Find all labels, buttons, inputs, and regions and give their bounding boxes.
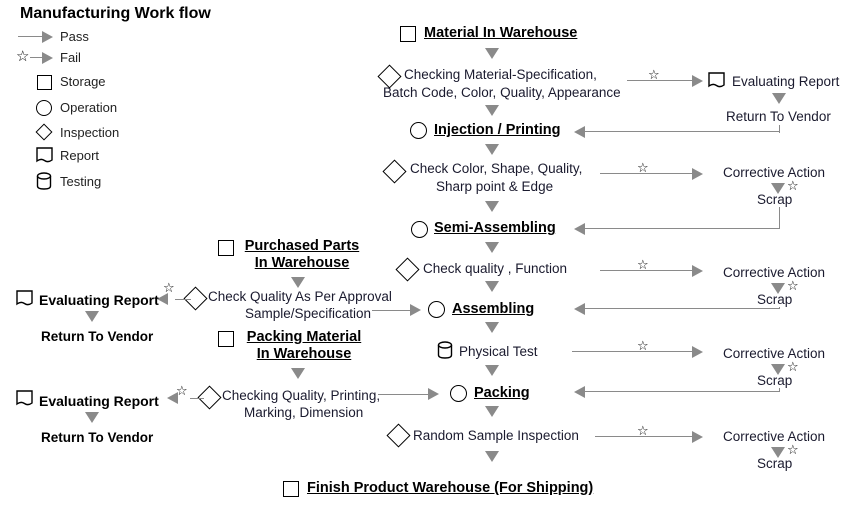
square-icon [218, 240, 234, 256]
arrow-right-icon [692, 431, 703, 443]
node-scrap-2[interactable]: Scrap [757, 292, 792, 307]
arrow-down-icon [85, 311, 99, 322]
arrow-down-icon [485, 451, 499, 462]
arrow-right-icon [692, 168, 703, 180]
node-check-quality-approval-line2[interactable]: Sample/Specification [245, 306, 371, 322]
node-assembling[interactable]: Assembling [452, 301, 534, 318]
legend-label-operation: Operation [60, 100, 117, 115]
arrow-left-icon [574, 303, 585, 315]
diamond-icon [395, 257, 419, 281]
arrow-down-icon [485, 406, 499, 417]
arrow-right-icon [410, 304, 421, 316]
star-icon: ☆ [637, 425, 649, 438]
document-icon [708, 72, 726, 89]
node-return-to-vendor-left-1[interactable]: Return To Vendor [41, 329, 153, 344]
page-title: Manufacturing Work flow [20, 5, 211, 23]
node-evaluating-report-left-1[interactable]: Evaluating Report [39, 292, 159, 308]
diamond-icon [386, 423, 410, 447]
node-random-sample-inspection[interactable]: Random Sample Inspection [413, 428, 579, 444]
node-injection-printing[interactable]: Injection / Printing [434, 122, 560, 139]
arrow-down-icon [485, 365, 499, 376]
fail-line-physical [572, 351, 695, 352]
star-icon: ☆ [637, 259, 649, 272]
node-purchased-parts-line1[interactable]: Purchased Parts [240, 238, 364, 255]
feedback-hline-vendor [585, 131, 780, 132]
node-scrap-4[interactable]: Scrap [757, 456, 792, 471]
node-checking-quality-printing-line1[interactable]: Checking Quality, Printing, [222, 388, 380, 404]
arrow-down-icon [485, 242, 499, 253]
node-return-to-vendor-left-2[interactable]: Return To Vendor [41, 430, 153, 445]
document-icon [16, 290, 34, 307]
node-packing-material-line2[interactable]: In Warehouse [240, 346, 368, 363]
node-physical-test[interactable]: Physical Test [459, 344, 538, 359]
square-icon [218, 331, 234, 347]
arrow-left-icon [574, 126, 585, 138]
arrow-down-icon [291, 277, 305, 288]
node-checking-quality-printing-line2[interactable]: Marking, Dimension [244, 405, 363, 421]
arrow-right-icon [42, 31, 53, 43]
arrow-right-icon [692, 75, 703, 87]
node-check-quality-approval-line1[interactable]: Check Quality As Per Approval [208, 289, 392, 305]
node-check-color-line1[interactable]: Check Color, Shape, Quality, [410, 161, 582, 177]
star-icon: ☆ [637, 340, 649, 353]
circle-icon [36, 100, 52, 116]
arrow-down-icon [485, 322, 499, 333]
pass-line-purchased-parts [372, 310, 412, 311]
arrow-down-icon [485, 144, 499, 155]
node-check-quality-function[interactable]: Check quality , Function [423, 261, 567, 277]
node-corrective-action-3[interactable]: Corrective Action [723, 346, 825, 361]
node-scrap-1[interactable]: Scrap [757, 192, 792, 207]
circle-icon [450, 385, 467, 402]
star-icon: ☆ [648, 69, 660, 82]
legend-label-storage: Storage [60, 74, 106, 89]
arrow-down-icon [772, 93, 786, 104]
arrow-down-icon [291, 368, 305, 379]
arrow-right-icon [428, 388, 439, 400]
arrow-left-icon [574, 386, 585, 398]
feedback-hline-corrective-1 [585, 228, 780, 229]
square-icon [400, 26, 416, 42]
circle-icon [410, 122, 427, 139]
legend-label-pass: Pass [60, 29, 89, 44]
node-return-to-vendor-top[interactable]: Return To Vendor [726, 109, 831, 124]
arrow-down-icon [85, 412, 99, 423]
node-semi-assembling[interactable]: Semi-Assembling [434, 220, 556, 237]
fail-line-purchased-parts [175, 299, 191, 300]
node-evaluating-report-left-2[interactable]: Evaluating Report [39, 393, 159, 409]
arrow-down-icon [485, 105, 499, 116]
legend-label-report: Report [60, 148, 99, 163]
arrow-right-icon [692, 346, 703, 358]
pass-line-packing-material [378, 394, 430, 395]
node-scrap-3[interactable]: Scrap [757, 373, 792, 388]
arrow-left-icon [574, 223, 585, 235]
document-icon [16, 390, 34, 407]
node-check-color-line2[interactable]: Sharp point & Edge [436, 179, 553, 195]
node-corrective-action-4[interactable]: Corrective Action [723, 429, 825, 444]
arrow-down-icon [485, 281, 499, 292]
node-corrective-action-2[interactable]: Corrective Action [723, 265, 825, 280]
feedback-vline-corrective-1 [779, 207, 780, 229]
cylinder-icon [36, 172, 53, 190]
legend-pass-line [18, 36, 44, 37]
diamond-icon [36, 124, 53, 141]
arrow-right-icon [692, 265, 703, 277]
arrow-right-icon [42, 52, 53, 64]
manufacturing-workflow-diagram: Manufacturing Work flow Pass ☆ Fail Stor… [0, 0, 864, 513]
circle-icon [411, 221, 428, 238]
diamond-icon [382, 159, 406, 183]
document-icon [36, 147, 54, 164]
star-icon: ☆ [637, 162, 649, 175]
square-icon [283, 481, 299, 497]
cylinder-icon [437, 341, 454, 359]
node-packing-material-line1[interactable]: Packing Material [240, 329, 368, 346]
node-finish-product-warehouse[interactable]: Finish Product Warehouse (For Shipping) [307, 480, 593, 497]
legend-label-fail: Fail [60, 50, 81, 65]
square-icon [37, 75, 52, 90]
arrow-left-icon [167, 392, 178, 404]
arrow-down-icon [485, 48, 499, 59]
fail-line-material [627, 80, 695, 81]
feedback-hline-corrective-2 [585, 308, 780, 309]
node-corrective-action-1[interactable]: Corrective Action [723, 165, 825, 180]
star-icon: ☆ [16, 49, 29, 64]
node-check-material-line2[interactable]: Batch Code, Color, Quality, Appearance [383, 85, 621, 101]
fail-line-packing-material [190, 398, 204, 399]
node-check-material-line1[interactable]: Checking Material-Specification, [404, 67, 597, 83]
node-material-in-warehouse[interactable]: Material In Warehouse [424, 25, 577, 42]
legend-label-testing: Testing [60, 174, 101, 189]
node-evaluating-report-top[interactable]: Evaluating Report [732, 74, 839, 89]
legend-label-inspection: Inspection [60, 125, 119, 140]
node-packing[interactable]: Packing [474, 385, 530, 402]
circle-icon [428, 301, 445, 318]
feedback-hline-corrective-3 [585, 391, 780, 392]
node-purchased-parts-line2[interactable]: In Warehouse [240, 255, 364, 272]
arrow-down-icon [485, 201, 499, 212]
